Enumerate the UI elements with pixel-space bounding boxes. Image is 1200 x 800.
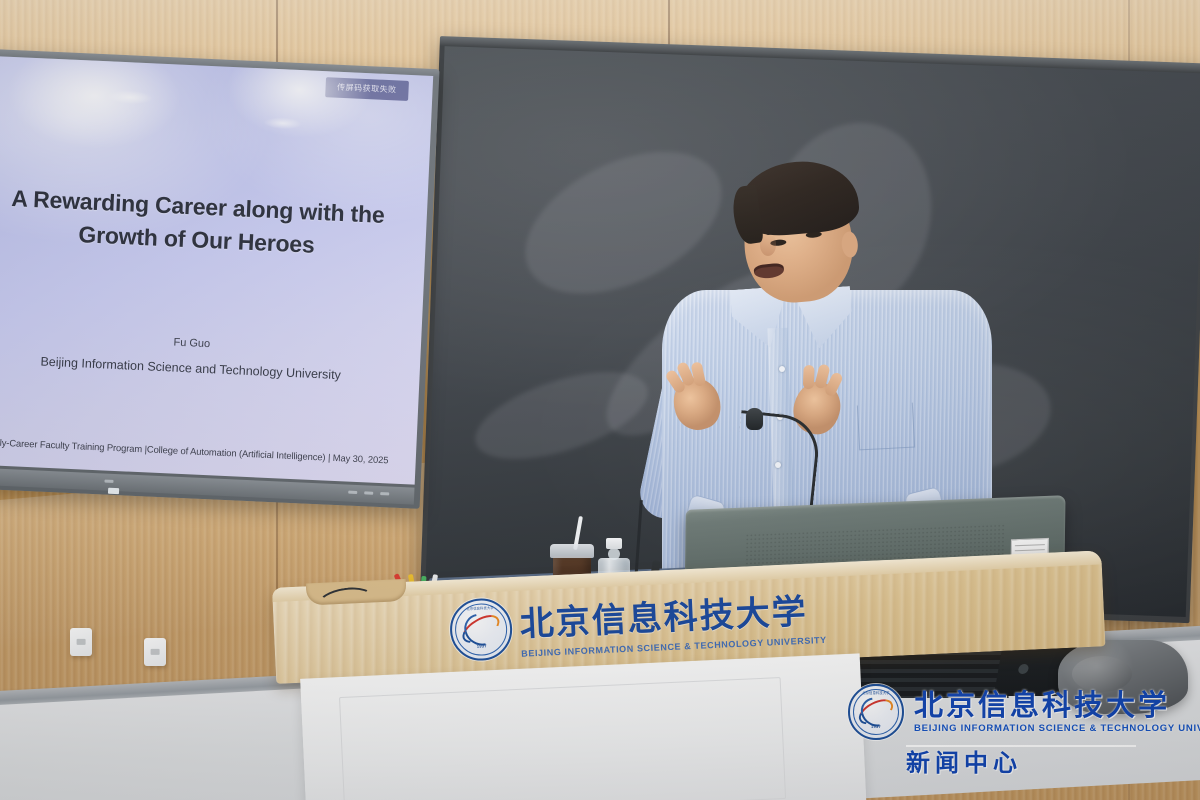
screen-glare xyxy=(263,116,304,130)
wall-display[interactable]: 传屏码获取失败 A Rewarding Career along with th… xyxy=(0,48,440,509)
watermark-subtitle: 新闻中心 xyxy=(906,751,1022,775)
bottle-cap xyxy=(606,538,622,549)
screen-glare xyxy=(2,55,187,154)
cup-lid xyxy=(550,544,594,558)
display-indicator xyxy=(364,491,373,494)
watermark-en-name: BEIJING INFORMATION SCIENCE & TECHNOLOGY… xyxy=(914,723,1200,734)
slide-title: A Rewarding Career along with the Growth… xyxy=(0,180,428,266)
university-seal-icon: 北京信息科技大学 1937 xyxy=(848,684,904,740)
display-indicator xyxy=(348,491,357,494)
slide-footer: Early-Career Faculty Training Program |C… xyxy=(0,435,416,467)
bottle-neck xyxy=(608,548,620,560)
shirt-pocket xyxy=(857,403,915,451)
wall-outlet[interactable] xyxy=(144,638,166,666)
lectern-body xyxy=(300,653,866,800)
slide-surface: 传屏码获取失败 A Rewarding Career along with th… xyxy=(0,55,433,484)
watermark-divider xyxy=(906,745,1136,747)
screen-glare xyxy=(106,89,155,105)
watermark-cn-name: 北京信息科技大学 xyxy=(914,691,1200,720)
university-seal-icon: 北京信息科技大学 1937 xyxy=(449,597,514,662)
wall-outlet[interactable] xyxy=(70,628,92,656)
display-ir-receiver xyxy=(108,488,119,494)
castcode-status-badge: 传屏码获取失败 xyxy=(325,77,409,101)
speaker-ear xyxy=(841,231,859,258)
seal-arc-text: 北京信息科技大学 xyxy=(853,691,900,696)
seal-arc-text: 北京信息科技大学 xyxy=(454,605,506,612)
seal-year: 1937 xyxy=(453,642,511,650)
shirt-button xyxy=(779,366,785,372)
display-indicator xyxy=(380,492,389,495)
display-indicator xyxy=(104,480,113,483)
news-center-watermark: 北京信息科技大学 1937 北京信息科技大学 BEIJING INFORMATI… xyxy=(848,684,1200,775)
lectern-panel xyxy=(339,677,786,800)
seal-year: 1937 xyxy=(850,724,902,729)
lecture-room-photo: 传屏码获取失败 A Rewarding Career along with th… xyxy=(0,0,1200,800)
microphone-head xyxy=(746,408,763,430)
